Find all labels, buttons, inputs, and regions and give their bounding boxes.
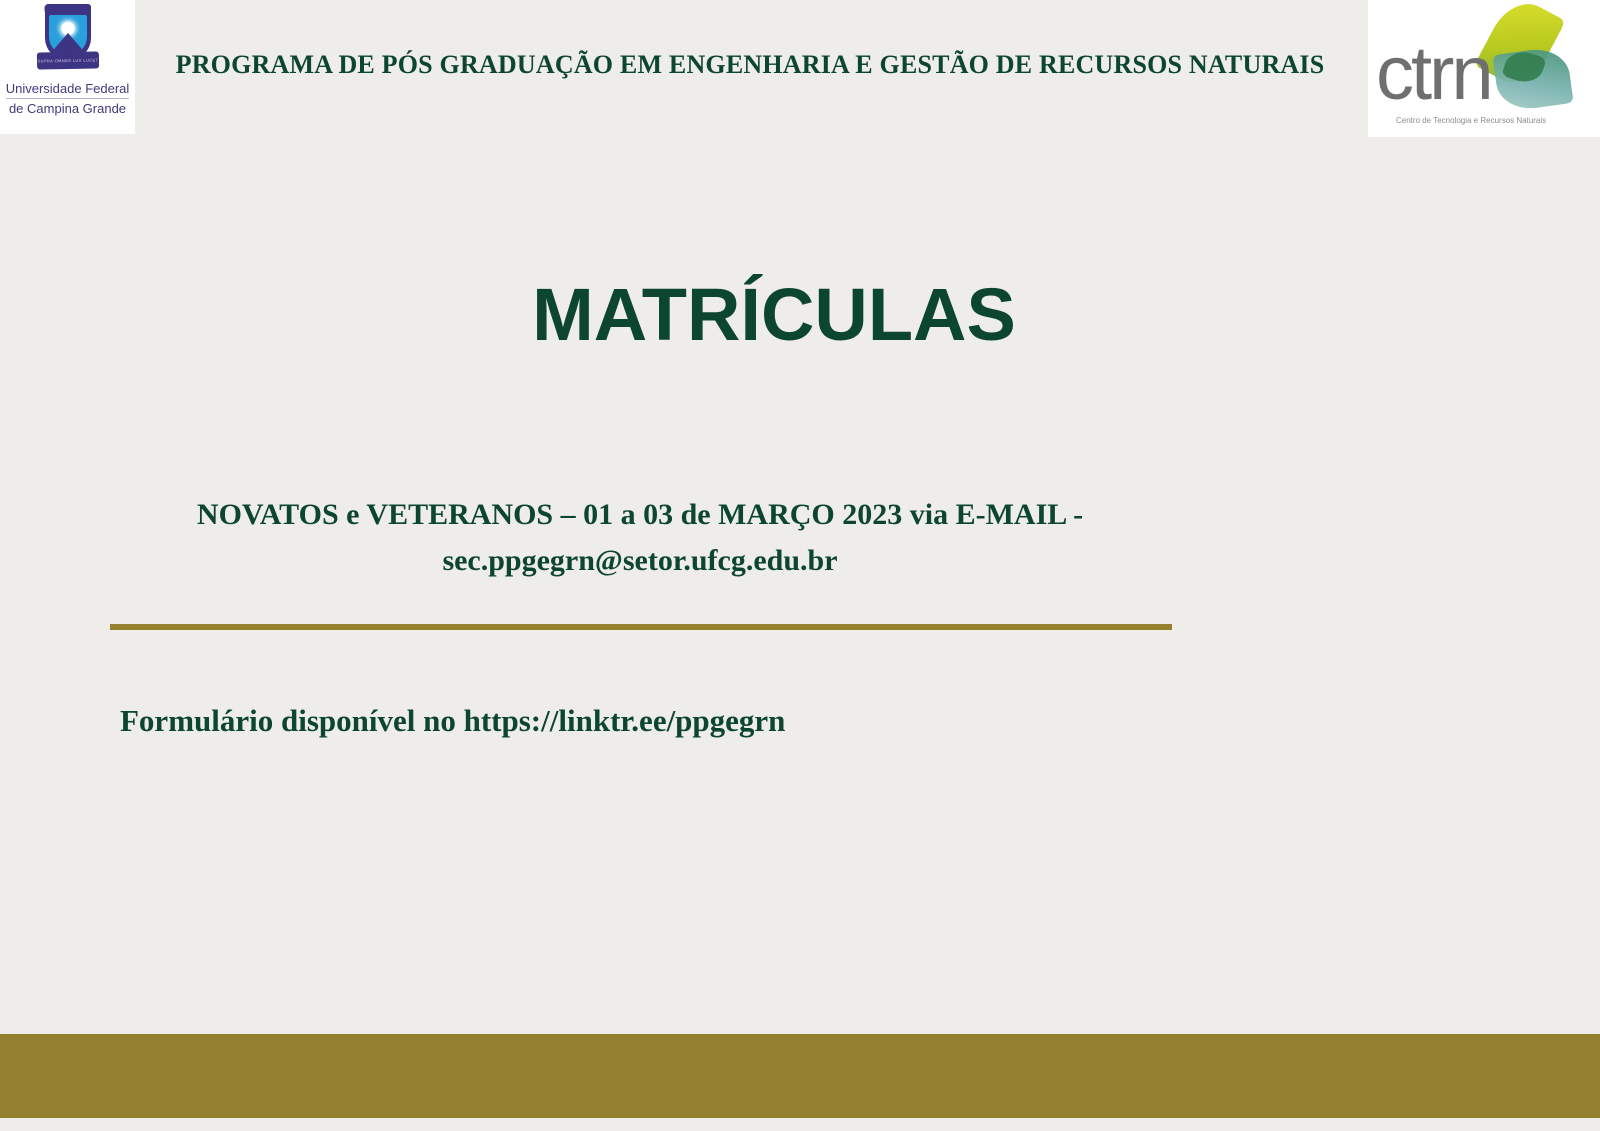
contact-email-line: sec.ppgegrn@setor.ufcg.edu.br — [108, 538, 1172, 584]
ufcg-ribbon: SUPRA OMNES LUX LUCET — [36, 51, 98, 69]
form-link-line: Formulário disponível no https://linktr.… — [120, 703, 1220, 739]
ufcg-name-line-1: Universidade Federal — [6, 80, 130, 99]
page-title: MATRÍCULAS — [0, 272, 1548, 357]
ufcg-name-line-2: de Campina Grande — [6, 99, 130, 117]
ufcg-shield-icon: U F C G SUPRA OMNES LUX LUCET — [37, 4, 99, 76]
enrollment-dates-line: NOVATOS e VETERANOS – 01 a 03 de MARÇO 2… — [108, 492, 1172, 538]
ufcg-logo: U F C G SUPRA OMNES LUX LUCET Universida… — [0, 0, 135, 134]
ufcg-name: Universidade Federal de Campina Grande — [6, 80, 130, 117]
footer-bar — [0, 1034, 1600, 1118]
header-band: U F C G SUPRA OMNES LUX LUCET Universida… — [0, 0, 1600, 140]
program-title: PROGRAMA DE PÓS GRADUAÇÃO EM ENGENHARIA … — [150, 50, 1350, 80]
ufcg-ribbon-motto: SUPRA OMNES LUX LUCET — [37, 57, 98, 63]
shield-inner-field — [49, 15, 87, 55]
ctrn-caption: Centro de Tecnologia e Recursos Naturais — [1396, 116, 1546, 125]
divider-rule — [110, 624, 1172, 630]
ctrn-logo: ctrn Centro de Tecnologia e Recursos Nat… — [1368, 0, 1600, 137]
ufcg-shield-letters: U F C G — [37, 5, 99, 15]
ctrn-wordmark: ctrn — [1376, 36, 1491, 112]
enrollment-info: NOVATOS e VETERANOS – 01 a 03 de MARÇO 2… — [108, 492, 1172, 584]
